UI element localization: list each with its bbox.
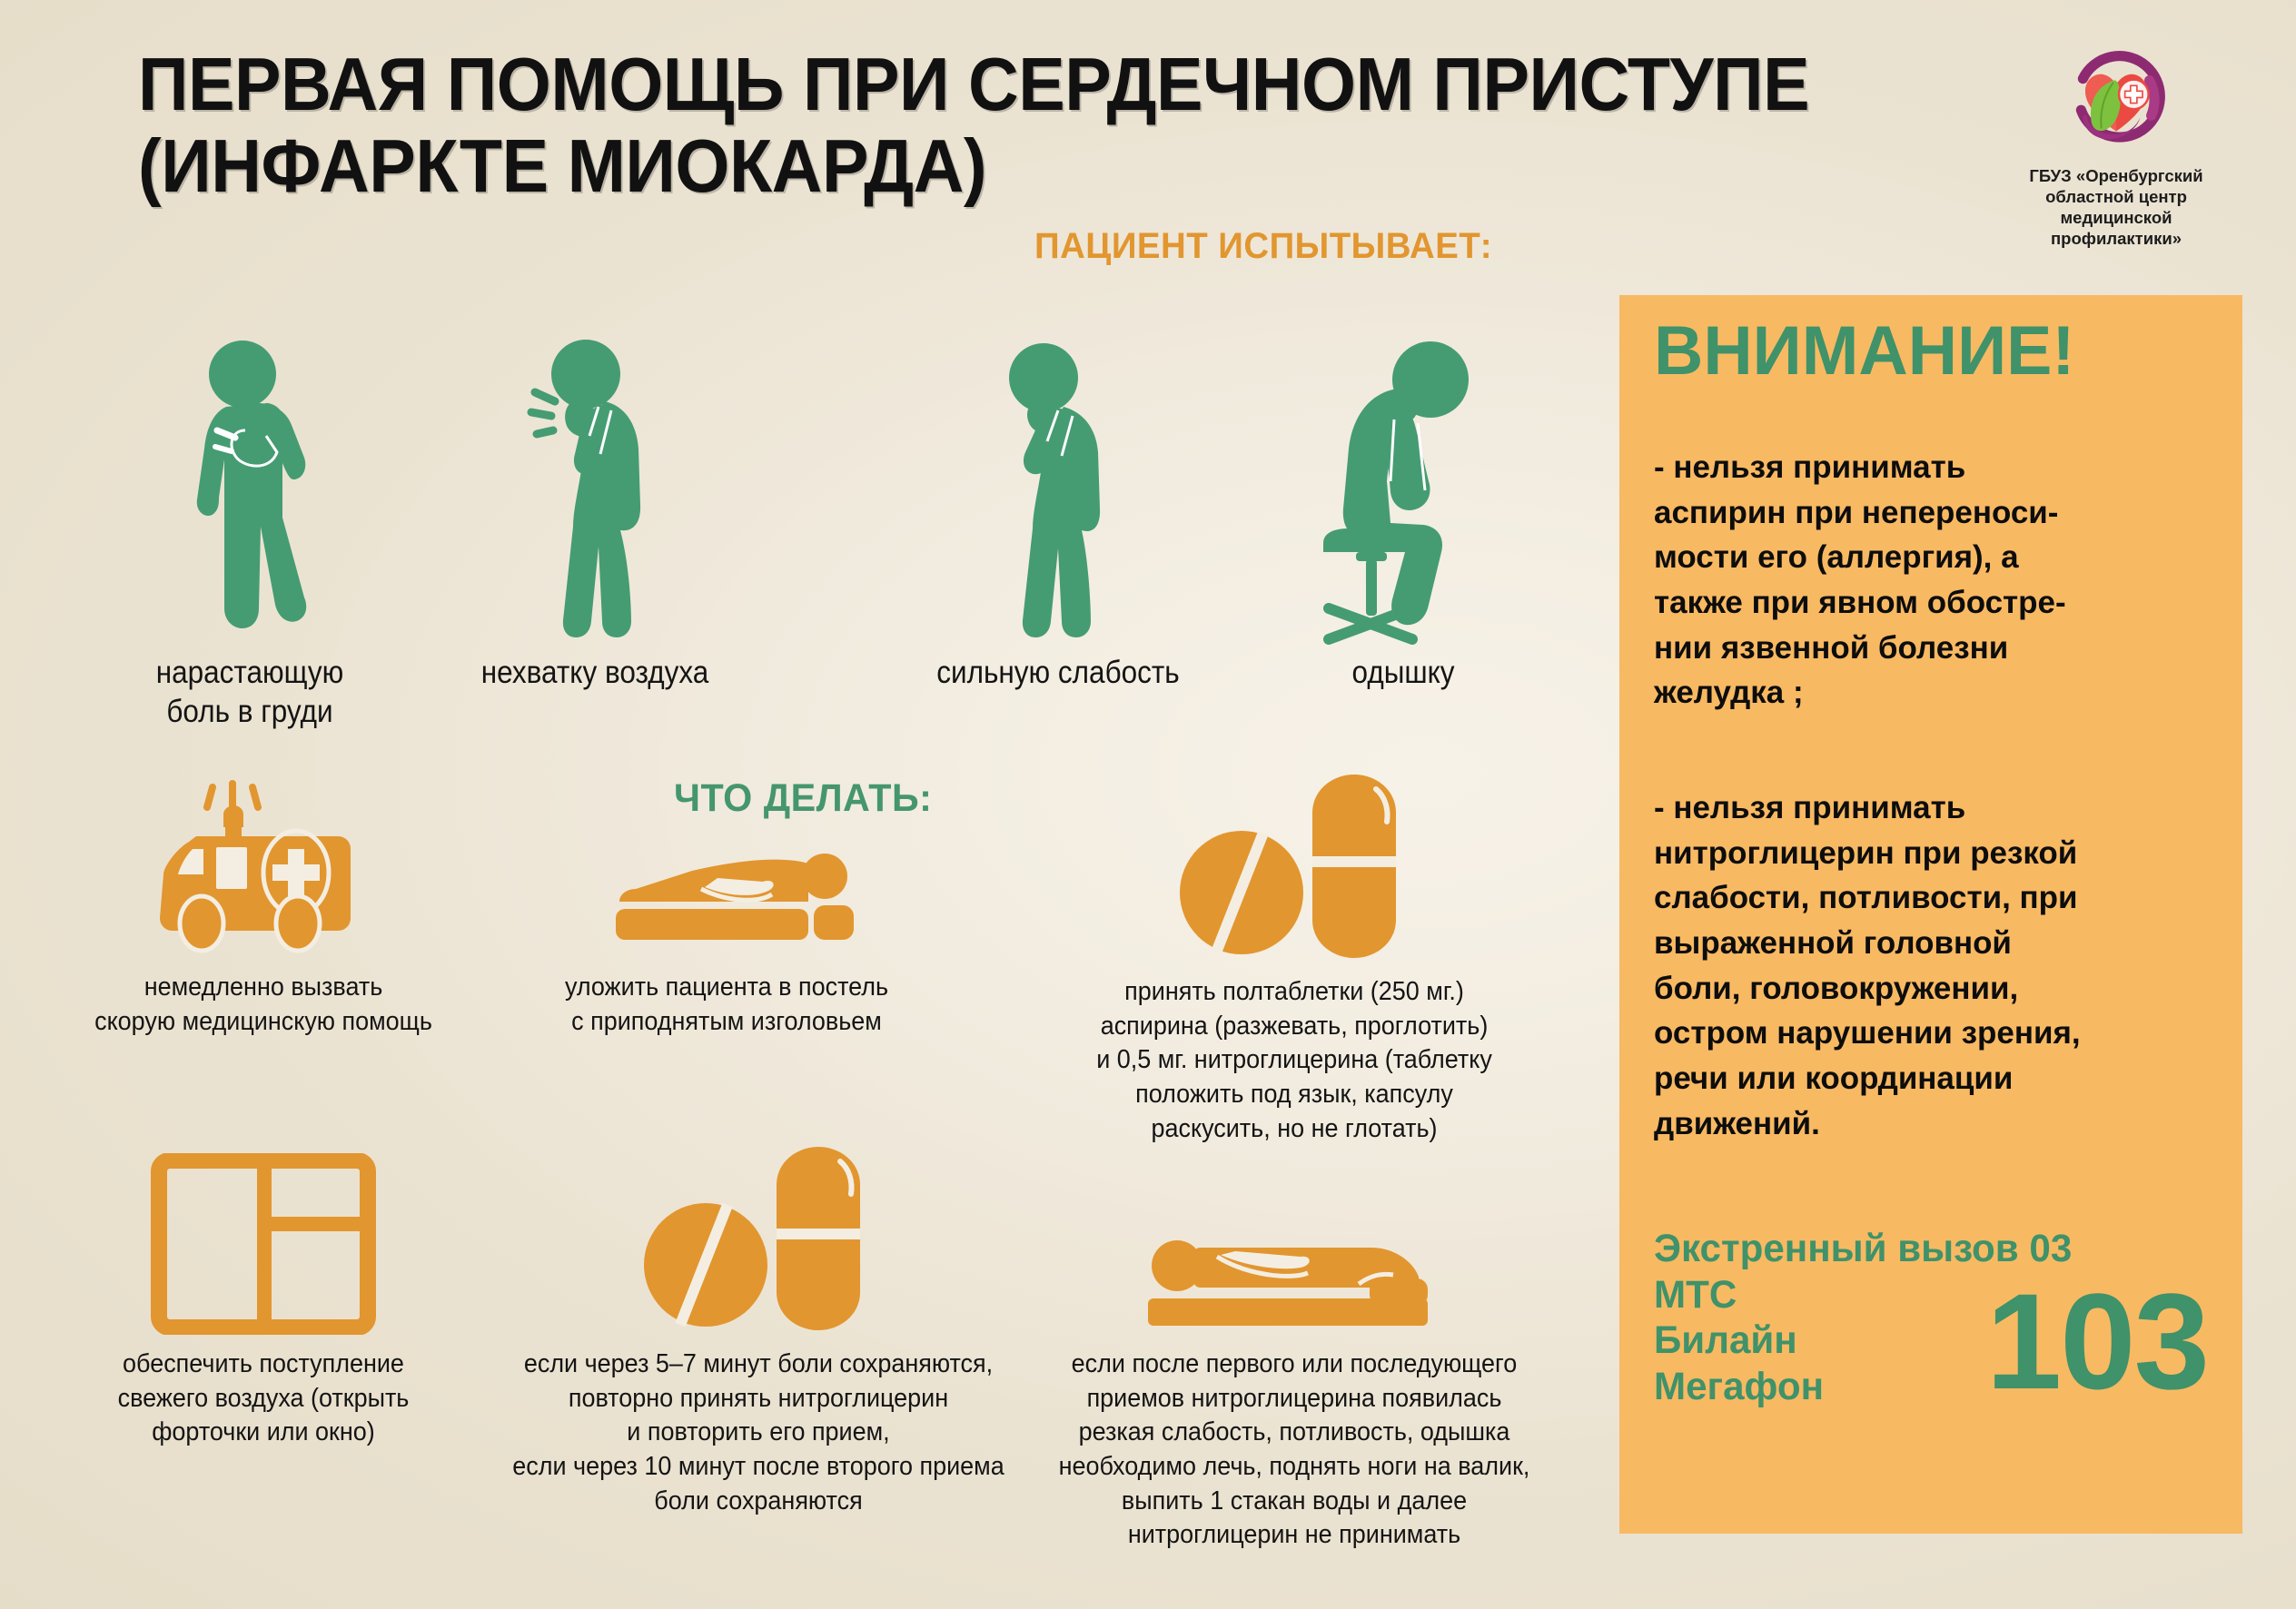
symptom-label: одышку [1228, 654, 1579, 693]
action-item: принять полтаблетки (250 мг.) аспирина (… [1013, 767, 1576, 1146]
symptom-item: нарастающую боль в груди [54, 281, 445, 731]
organization-logo: ГБУЗ «Оренбургский областной центр медиц… [1984, 44, 2248, 250]
poster-root: ПЕРВАЯ ПОМОЩЬ ПРИ СЕРДЕЧНОМ ПРИСТУПЕ (ИН… [0, 0, 2296, 1609]
symptom-label: сильную слабость [883, 654, 1234, 693]
action-item: обеспечить поступление свежего воздуха (… [50, 1130, 477, 1450]
emergency-call-block: Экстренный вызов 03 МТС Билайн Мегафон 1… [1654, 1226, 2217, 1410]
warning-panel: ВНИМАНИЕ! - нельзя принимать аспирин при… [1619, 295, 2242, 1534]
symptom-item: сильную слабость [863, 281, 1253, 693]
warning-paragraph: - нельзя принимать аспирин при неперенос… [1654, 445, 2207, 716]
person-sitting-stool-icon [1208, 281, 1598, 645]
ambulance-icon [50, 772, 477, 958]
action-item: если после первого или последующего прие… [1008, 1230, 1580, 1553]
action-item: немедленно вызвать скорую медицинскую по… [50, 772, 477, 1039]
section-header-patient: ПАЦИЕНТ ИСПЫТЫВАЕТ: [1034, 226, 1492, 267]
symptom-item: нехватку воздуха [400, 281, 790, 693]
page-title: ПЕРВАЯ ПОМОЩЬ ПРИ СЕРДЕЧНОМ ПРИСТУПЕ (ИН… [138, 44, 1827, 206]
symptom-label: нехватку воздуха [420, 654, 771, 693]
pills-icon [477, 1130, 1040, 1335]
symptom-label: нарастающую боль в груди [74, 654, 426, 731]
person-gasping-icon [400, 281, 790, 645]
person-chest-pain-icon [54, 281, 445, 645]
action-label: если после первого или последующего прие… [1028, 1347, 1560, 1553]
section-header-what-to-do: ЧТО ДЕЛАТЬ: [674, 776, 932, 821]
action-item: если через 5–7 минут боли сохраняются, п… [477, 1130, 1040, 1518]
pills-icon [1013, 767, 1576, 962]
heart-leaf-hand-cross-logo-icon [2061, 44, 2172, 154]
logo-caption: ГБУЗ «Оренбургский областной центр медиц… [1984, 165, 2248, 250]
emergency-number: 103 [1986, 1273, 2208, 1409]
action-label: принять полтаблетки (250 мг.) аспирина (… [1033, 975, 1557, 1146]
warning-title: ВНИМАНИЕ! [1654, 311, 2074, 390]
action-label: обеспечить поступление свежего воздуха (… [64, 1347, 461, 1450]
action-label: уложить пациента в постель с приподнятым… [520, 971, 934, 1039]
person-lying-flat-icon [1008, 1230, 1580, 1335]
person-weakness-icon [863, 281, 1253, 645]
window-icon [50, 1130, 477, 1335]
action-item: уложить пациента в постель с приподнятым… [504, 844, 949, 1039]
action-label: если через 5–7 минут боли сохраняются, п… [497, 1347, 1021, 1518]
action-label: немедленно вызвать скорую медицинскую по… [64, 971, 461, 1039]
patient-in-bed-icon [504, 844, 949, 958]
symptom-item: одышку [1208, 281, 1598, 693]
warning-paragraph: - нельзя принимать нитроглицерин при рез… [1654, 785, 2207, 1147]
